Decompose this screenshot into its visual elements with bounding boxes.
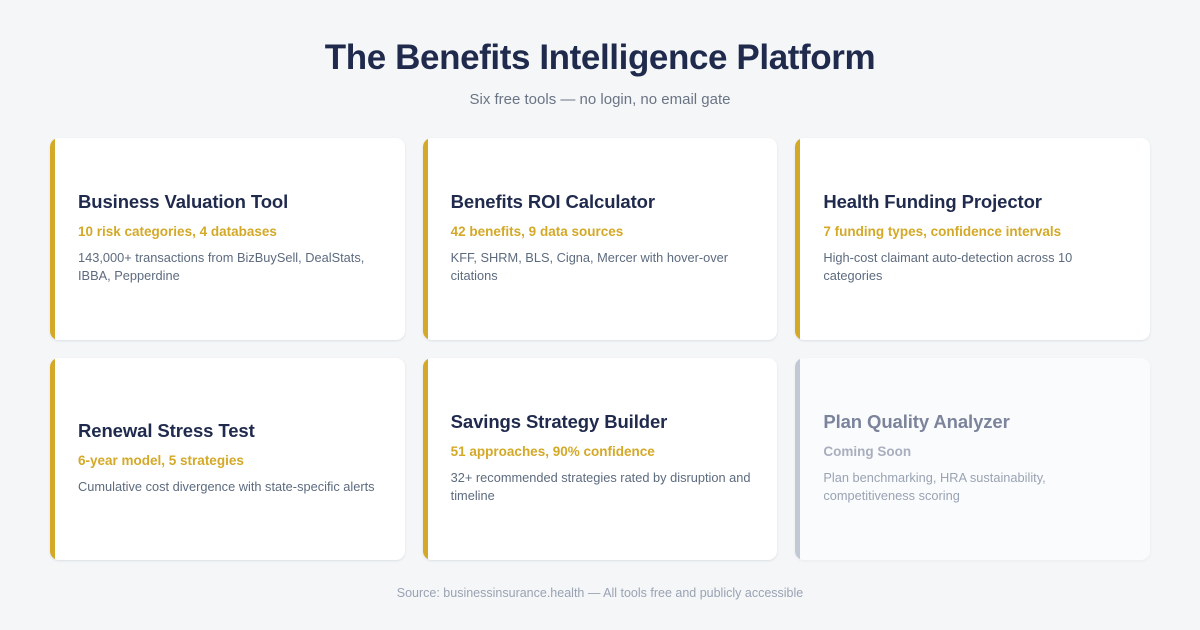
tool-card-plan-quality-analyzer: Plan Quality Analyzer Coming Soon Plan b… [795, 358, 1150, 560]
card-metric: 42 benefits, 9 data sources [451, 224, 752, 241]
tool-card-business-valuation-tool[interactable]: Business Valuation Tool 10 risk categori… [50, 138, 405, 340]
tool-card-renewal-stress-test[interactable]: Renewal Stress Test 6-year model, 5 stra… [50, 358, 405, 560]
card-body: Business Valuation Tool 10 risk categori… [78, 191, 379, 287]
card-body: Health Funding Projector 7 funding types… [823, 191, 1124, 287]
card-description: Plan benchmarking, HRA sustainability, c… [823, 469, 1124, 505]
card-metric: 51 approaches, 90% confidence [451, 444, 752, 461]
tool-card-grid: Business Valuation Tool 10 risk categori… [50, 138, 1150, 560]
card-title: Benefits ROI Calculator [451, 191, 752, 213]
tool-card-benefits-roi-calculator[interactable]: Benefits ROI Calculator 42 benefits, 9 d… [423, 138, 778, 340]
card-title: Plan Quality Analyzer [823, 411, 1124, 433]
card-metric: 6-year model, 5 strategies [78, 453, 379, 470]
card-body: Savings Strategy Builder 51 approaches, … [451, 411, 752, 507]
tool-card-health-funding-projector[interactable]: Health Funding Projector 7 funding types… [795, 138, 1150, 340]
page-subtitle: Six free tools — no login, no email gate [50, 91, 1150, 108]
card-title: Savings Strategy Builder [451, 411, 752, 433]
tool-card-savings-strategy-builder[interactable]: Savings Strategy Builder 51 approaches, … [423, 358, 778, 560]
page-title: The Benefits Intelligence Platform [50, 38, 1150, 78]
card-metric: 7 funding types, confidence intervals [823, 224, 1124, 241]
source-attribution: Source: businessinsurance.health — All t… [50, 586, 1150, 600]
card-description: Cumulative cost divergence with state-sp… [78, 478, 379, 496]
card-description: High-cost claimant auto-detection across… [823, 249, 1124, 285]
card-body: Renewal Stress Test 6-year model, 5 stra… [78, 420, 379, 498]
card-title: Renewal Stress Test [78, 420, 379, 442]
card-body: Plan Quality Analyzer Coming Soon Plan b… [823, 411, 1124, 507]
page-header: The Benefits Intelligence Platform Six f… [50, 0, 1150, 108]
card-metric: 10 risk categories, 4 databases [78, 224, 379, 241]
card-description: 143,000+ transactions from BizBuySell, D… [78, 249, 379, 285]
card-title: Business Valuation Tool [78, 191, 379, 213]
platform-overview-page: The Benefits Intelligence Platform Six f… [0, 0, 1200, 630]
card-title: Health Funding Projector [823, 191, 1124, 213]
card-body: Benefits ROI Calculator 42 benefits, 9 d… [451, 191, 752, 287]
card-description: KFF, SHRM, BLS, Cigna, Mercer with hover… [451, 249, 752, 285]
card-status-badge: Coming Soon [823, 444, 1124, 461]
page-footer: Source: businessinsurance.health — All t… [50, 568, 1150, 630]
card-description: 32+ recommended strategies rated by disr… [451, 469, 752, 505]
